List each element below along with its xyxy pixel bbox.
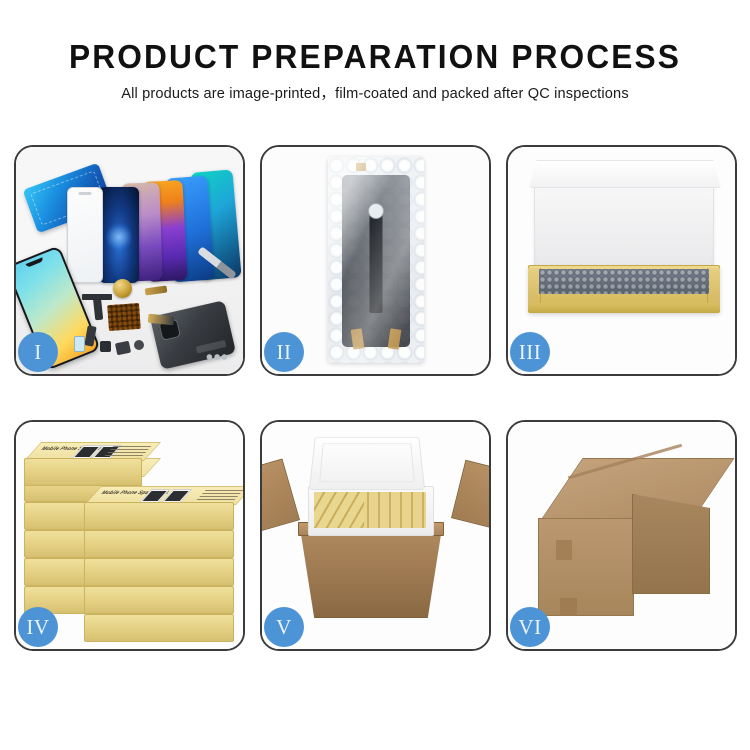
label-spec-lines-rear <box>103 446 152 458</box>
foam-lid-image <box>309 437 425 490</box>
process-step-panel-6[interactable]: VI <box>506 420 737 651</box>
retail-box-front <box>84 614 234 642</box>
process-step-grid: I II <box>14 145 737 651</box>
speaker-part-image <box>113 279 132 298</box>
box-front-lip <box>529 303 719 312</box>
lid-top-edge <box>529 160 721 188</box>
bubble-wrap-sheen <box>328 157 424 363</box>
yellow-inner-box-image <box>528 265 720 313</box>
retail-box <box>84 614 234 642</box>
process-step-panel-1[interactable]: I <box>14 145 245 376</box>
retail-box-front <box>84 558 234 586</box>
carton-tape-patch-2 <box>560 598 577 616</box>
retail-box-front <box>84 530 234 558</box>
retail-box-top-rear: Mobile Phone Spare Parts <box>24 458 142 486</box>
retail-box-front <box>84 502 234 530</box>
bubble-wrap-bag-image <box>328 157 424 363</box>
screws-image <box>205 352 227 362</box>
step-badge-1: I <box>18 332 58 372</box>
process-step-panel-4[interactable]: Mobile Phone Spare Parts <box>14 420 245 651</box>
retail-box <box>84 530 234 558</box>
lid-face <box>537 188 711 274</box>
sealed-carton-front <box>538 518 634 616</box>
phone-image-5 <box>99 187 139 283</box>
retail-box <box>84 586 234 614</box>
packed-retail-boxes-angled <box>314 492 364 528</box>
flex-cable-part-5 <box>100 341 111 352</box>
retail-box-stack-image: Mobile Phone Spare Parts <box>24 440 238 636</box>
process-step-panel-5[interactable]: V <box>260 420 491 651</box>
open-carton-image <box>300 528 442 618</box>
page-title: PRODUCT PREPARATION PROCESS <box>15 38 735 76</box>
retail-box-top: Mobile Phone Spare Parts <box>84 502 234 530</box>
label-spec-lines <box>195 490 243 502</box>
sealed-carton-side <box>632 494 710 594</box>
retail-box-front-rear <box>24 458 142 486</box>
page-header: PRODUCT PREPARATION PROCESS All products… <box>0 0 750 104</box>
step-badge-2: II <box>264 332 304 372</box>
page-subtitle: All products are image-printed，film-coat… <box>0 85 750 104</box>
step-badge-3: III <box>510 332 550 372</box>
white-box-lid-image <box>534 171 714 277</box>
sim-tray-image <box>74 336 85 352</box>
step-badge-5: V <box>264 607 304 647</box>
carton-tape-patch-1 <box>556 540 572 560</box>
bubble-wrap-fill-image <box>539 269 709 294</box>
step-badge-6: VI <box>510 607 550 647</box>
process-step-panel-3[interactable]: III <box>506 145 737 376</box>
process-step-panel-2[interactable]: II <box>260 145 491 376</box>
camera-module-image <box>134 340 144 350</box>
retail-box-front <box>84 586 234 614</box>
screen-protector-image <box>67 187 103 283</box>
connector-grid-image <box>107 303 141 331</box>
retail-box <box>84 558 234 586</box>
step-badge-4: IV <box>18 607 58 647</box>
